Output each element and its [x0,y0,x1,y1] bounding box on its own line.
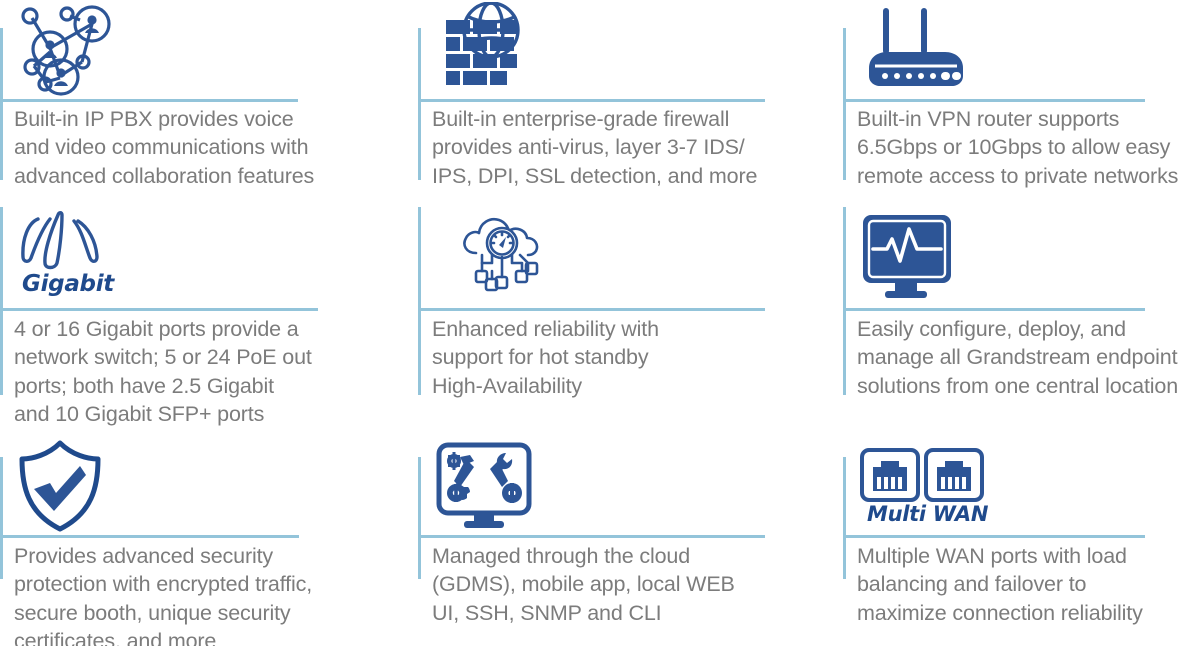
feature-caption: Built-in enterprise-grade firewall provi… [432,105,800,190]
feature-caption: Built-in IP PBX provides voice and video… [14,105,386,190]
feature-cell-ip-pbx: Built-in IP PBX provides voice and video… [0,0,400,200]
cell-horizontal-rule [418,99,765,102]
feature-cell-multi-wan: Multi WAN Multiple WAN ports with load b… [843,437,1200,646]
cell-horizontal-rule [418,308,765,311]
icon-container [859,211,955,301]
network-users-icon [12,4,112,96]
icon-container [12,439,108,533]
cell-vertical-rule [418,207,421,395]
cell-vertical-rule [843,207,846,395]
cell-horizontal-rule [843,308,1145,311]
cell-vertical-rule [418,28,421,180]
feature-caption: Enhanced reliability with support for ho… [432,315,802,400]
icon-container [434,441,534,531]
feature-caption: Easily configure, deploy, and manage all… [857,315,1200,400]
cell-vertical-rule [0,457,3,579]
monitor-pulse-icon [859,211,955,301]
icon-container [12,4,112,96]
feature-caption: Managed through the cloud (GDMS), mobile… [432,542,802,627]
feature-caption: 4 or 16 Gigabit ports provide a network … [14,315,384,429]
cloud-gauge-nodes-icon [458,215,546,301]
rj45-dual-port-icon [859,447,985,503]
icon-container: Multi WAN [859,447,988,525]
feature-caption: Built-in VPN router supports 6.5Gbps or … [857,105,1200,190]
icon-container [436,2,536,94]
feature-cell-security: Provides advanced security protection wi… [0,437,400,646]
cell-vertical-rule [843,28,846,180]
feature-caption: Multiple WAN ports with load balancing a… [857,542,1200,627]
cell-horizontal-rule [418,535,765,538]
cell-vertical-rule [418,457,421,579]
cell-horizontal-rule [843,535,1145,538]
icon-container: Gigabit [14,209,114,296]
multi-wan-badge-label: Multi WAN [867,504,988,525]
icon-container [458,215,546,301]
cell-vertical-rule [0,207,3,395]
cell-horizontal-rule [0,99,298,102]
feature-cell-vpn-router: Built-in VPN router supports 6.5Gbps or … [843,0,1200,200]
firewall-brickwall-globe-icon [436,2,536,94]
cell-vertical-rule [0,28,3,180]
vpn-router-icon [859,6,971,92]
feature-caption: Provides advanced security protection wi… [14,542,386,646]
gigabit-badge-label: Gigabit [22,273,114,296]
cell-horizontal-rule [0,535,299,538]
monitor-tools-gears-icon [434,441,534,531]
icon-container [859,6,971,92]
feature-cell-firewall: Built-in enterprise-grade firewall provi… [418,0,818,200]
cell-vertical-rule [843,457,846,579]
cell-horizontal-rule [843,99,1145,102]
feature-cell-high-availability: Enhanced reliability with support for ho… [418,207,818,427]
gigabit-icon [14,209,114,271]
feature-cell-central-management: Easily configure, deploy, and manage all… [843,207,1200,427]
feature-cell-gigabit-ports: Gigabit 4 or 16 Gigabit ports provide a … [0,207,400,427]
cell-horizontal-rule [0,308,318,311]
feature-grid: Built-in IP PBX provides voice and video… [0,0,1200,646]
feature-cell-management-channels: Managed through the cloud (GDMS), mobile… [418,437,818,646]
shield-check-icon [12,439,108,533]
